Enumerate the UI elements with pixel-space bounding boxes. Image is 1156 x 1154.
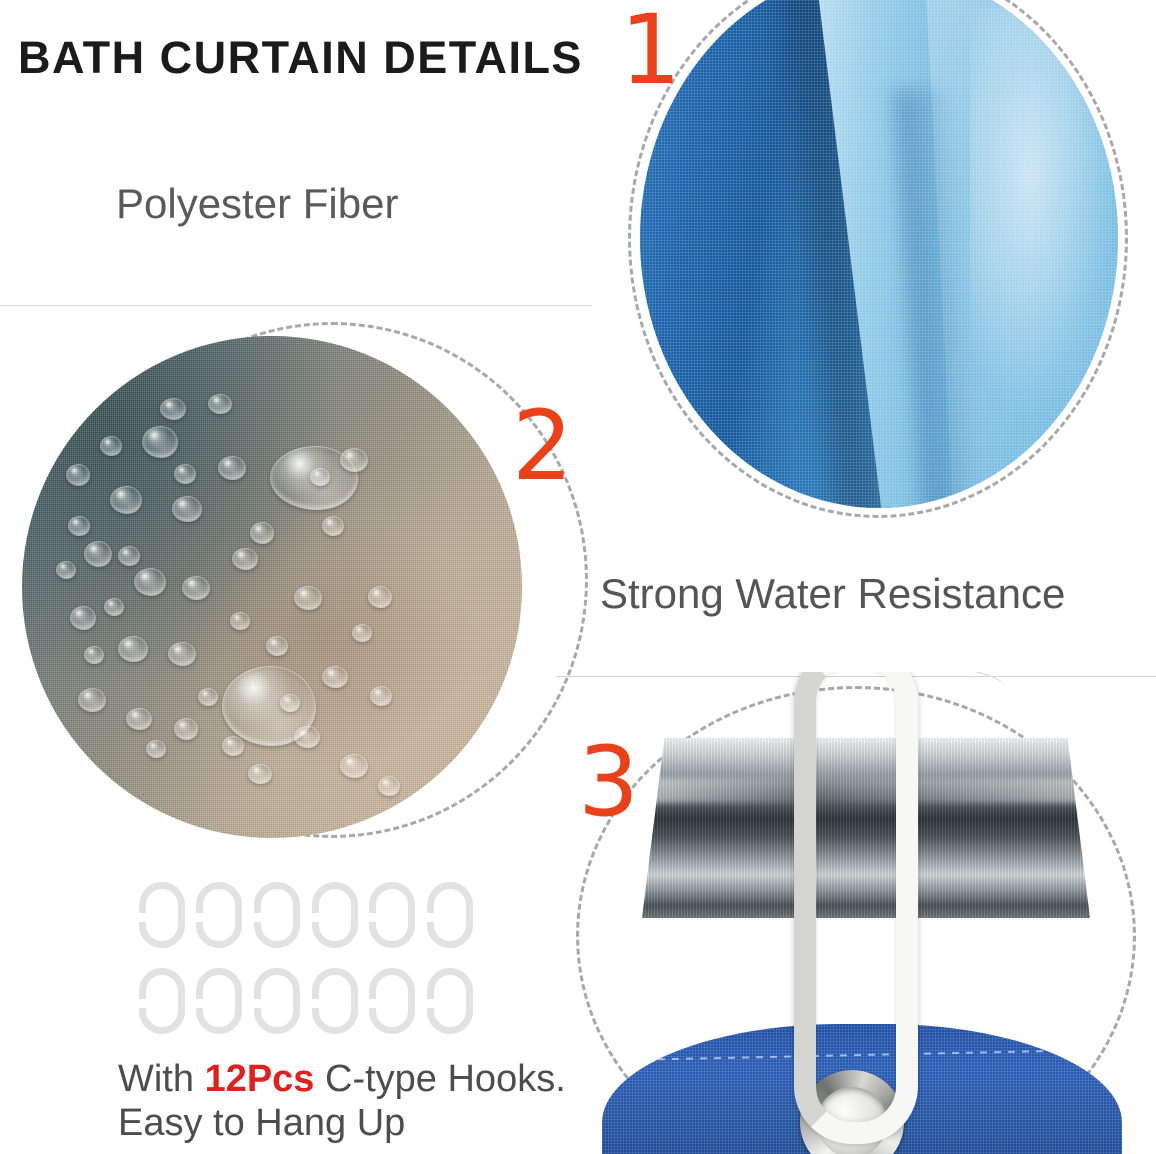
blue-polyester-fabric-folds-photo [640, 0, 1118, 508]
fabric-canvas-texture [22, 336, 522, 838]
water-droplet [294, 586, 322, 610]
water-droplet [78, 688, 106, 712]
water-droplet [104, 598, 124, 616]
water-droplet [84, 646, 104, 664]
feature-number-1: 1 [620, 2, 681, 98]
fabric-weave-texture [640, 0, 1118, 508]
c-type-hook-ring [139, 882, 185, 948]
page-title: BATH CURTAIN DETAILS [18, 32, 583, 84]
water-droplet [172, 496, 202, 522]
water-droplet [198, 688, 218, 706]
water-droplet [280, 694, 300, 712]
water-droplet [208, 394, 232, 414]
water-droplet [146, 740, 166, 758]
c-type-hook-ring [196, 968, 242, 1034]
product-detail-infographic: BATH CURTAIN DETAILS Polyester Fiber 1 2… [0, 0, 1156, 1154]
feature-number-2: 2 [512, 398, 573, 494]
water-droplet [266, 636, 288, 656]
c-type-hook-ring [369, 968, 415, 1034]
water-droplet [340, 754, 368, 778]
c-type-hook-ring [427, 968, 473, 1034]
water-droplet [218, 456, 246, 480]
water-droplet [322, 666, 348, 688]
water-droplet [134, 568, 166, 596]
water-droplet [232, 548, 258, 570]
c-type-hook-ring [254, 968, 300, 1034]
footer-hang-up-line: Easy to Hang Up [118, 1102, 405, 1145]
water-droplet [110, 486, 142, 514]
divider-left [0, 305, 592, 306]
water-droplet [118, 636, 148, 662]
water-droplet [70, 606, 96, 630]
feature-panel-1 [640, 0, 1140, 528]
water-droplet [168, 642, 196, 666]
feature-panel-2 [20, 330, 560, 850]
water-droplet [126, 708, 152, 730]
c-type-hook-ring [139, 968, 185, 1034]
water-droplet [294, 726, 320, 748]
footer-hooks-count: 12Pcs [205, 1058, 315, 1100]
feature-panel-3 [556, 672, 1156, 1154]
water-droplet [174, 464, 196, 484]
c-type-hook-ring [312, 882, 358, 948]
water-droplet [230, 612, 250, 630]
water-droplet [174, 718, 198, 740]
water-droplet [222, 736, 244, 756]
water-droplet [68, 516, 90, 536]
water-droplet [340, 448, 368, 472]
water-droplet [250, 522, 274, 544]
water-droplet [370, 686, 392, 706]
water-droplet [378, 776, 400, 796]
water-droplet [352, 624, 372, 642]
water-droplets-beading-on-fabric-photo [22, 336, 522, 838]
feature-label-water-resistance: Strong Water Resistance [600, 570, 1065, 618]
c-type-hooks-grid [136, 882, 476, 1044]
water-droplet [248, 764, 272, 784]
water-droplet [142, 426, 178, 458]
footer-hooks-count-line: With 12Pcs C-type Hooks. [118, 1058, 566, 1101]
water-droplet [84, 541, 112, 567]
footer-text-after: C-type Hooks. [314, 1058, 565, 1100]
water-droplet [118, 546, 140, 566]
water-droplet [100, 436, 122, 456]
c-type-hook-ring [312, 968, 358, 1034]
water-droplet [182, 576, 210, 600]
water-droplet [368, 586, 392, 608]
c-type-hook-ring [254, 882, 300, 948]
feature-number-3: 3 [578, 734, 639, 830]
c-type-hook-ring [369, 882, 415, 948]
c-type-hook-ring [427, 882, 473, 948]
water-droplet [310, 468, 330, 486]
c-type-hook-ring [196, 882, 242, 948]
water-droplet [66, 464, 90, 486]
water-droplet [56, 561, 76, 579]
feature-label-polyester-fiber: Polyester Fiber [116, 180, 398, 228]
water-droplet [160, 398, 186, 420]
water-droplet [322, 516, 344, 536]
c-hook-shading [794, 672, 918, 1144]
footer-text-before: With [118, 1058, 205, 1100]
